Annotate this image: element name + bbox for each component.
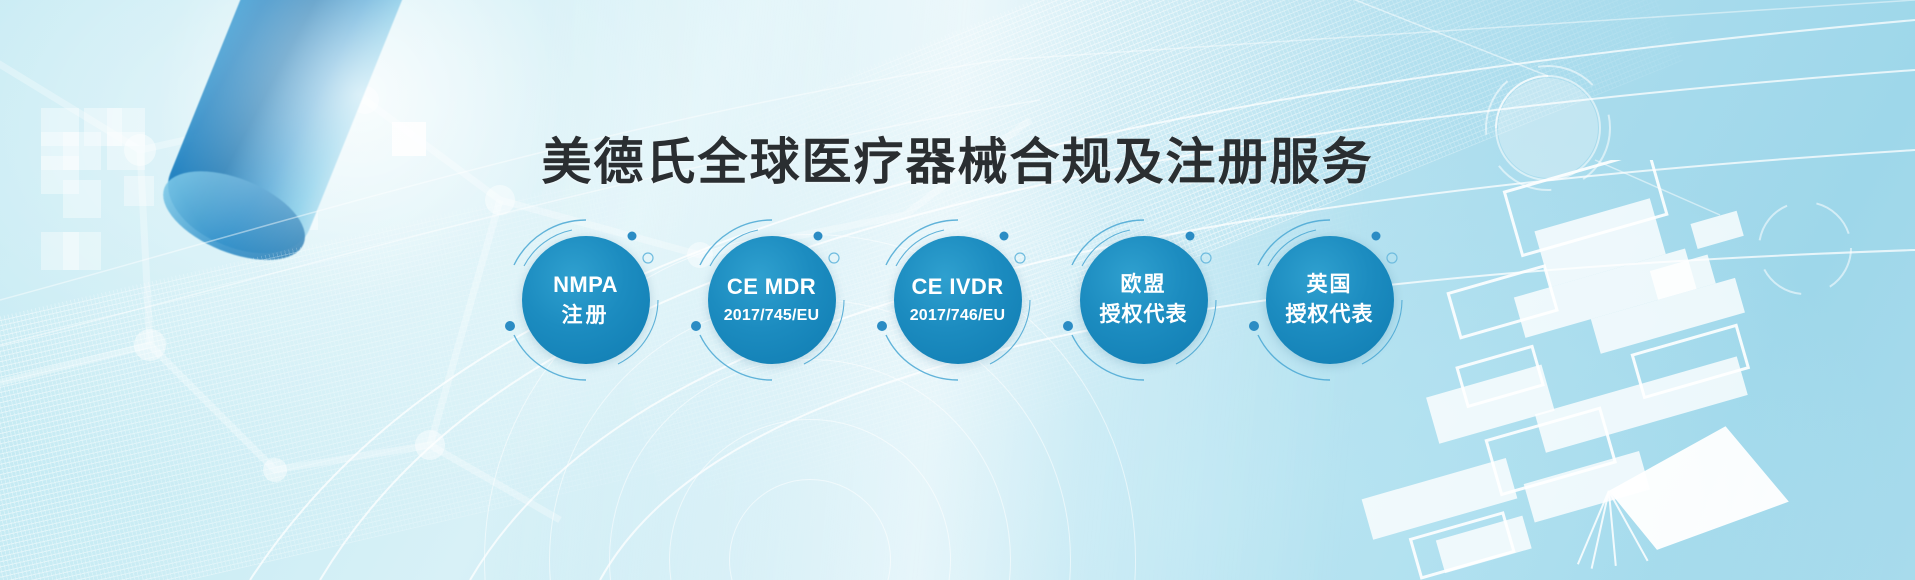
badge-line2: 2017/746/EU: [910, 307, 1006, 325]
service-badge-row: NMPA 注册 CE MDR 20: [0, 228, 1915, 372]
hero-banner: 美德氏全球医疗器械合规及注册服务 NMPA 注册: [0, 0, 1915, 580]
badge-disc: CE MDR 2017/745/EU: [708, 236, 836, 364]
badge-line2: 授权代表: [1100, 303, 1188, 327]
page-title: 美德氏全球医疗器械合规及注册服务: [0, 122, 1915, 194]
badge-line1: 英国: [1307, 273, 1353, 297]
badge-line1: CE IVDR: [911, 275, 1003, 300]
badge-line2: 2017/745/EU: [724, 307, 820, 325]
badge-line2: 注册: [562, 304, 610, 328]
badge-disc: CE IVDR 2017/746/EU: [894, 236, 1022, 364]
service-badge-ce-mdr[interactable]: CE MDR 2017/745/EU: [700, 228, 844, 372]
badge-disc: 英国 授权代表: [1266, 236, 1394, 364]
badge-line1: 欧盟: [1121, 273, 1167, 297]
service-badge-eu-ar[interactable]: 欧盟 授权代表: [1072, 228, 1216, 372]
badge-disc: NMPA 注册: [522, 236, 650, 364]
badge-line2: 授权代表: [1286, 303, 1374, 327]
service-badge-uk-rp[interactable]: 英国 授权代表: [1258, 228, 1402, 372]
service-badge-nmpa[interactable]: NMPA 注册: [514, 228, 658, 372]
badge-disc: 欧盟 授权代表: [1080, 236, 1208, 364]
service-badge-ce-ivdr[interactable]: CE IVDR 2017/746/EU: [886, 228, 1030, 372]
badge-line1: CE MDR: [727, 275, 816, 300]
badge-line1: NMPA: [553, 273, 618, 298]
